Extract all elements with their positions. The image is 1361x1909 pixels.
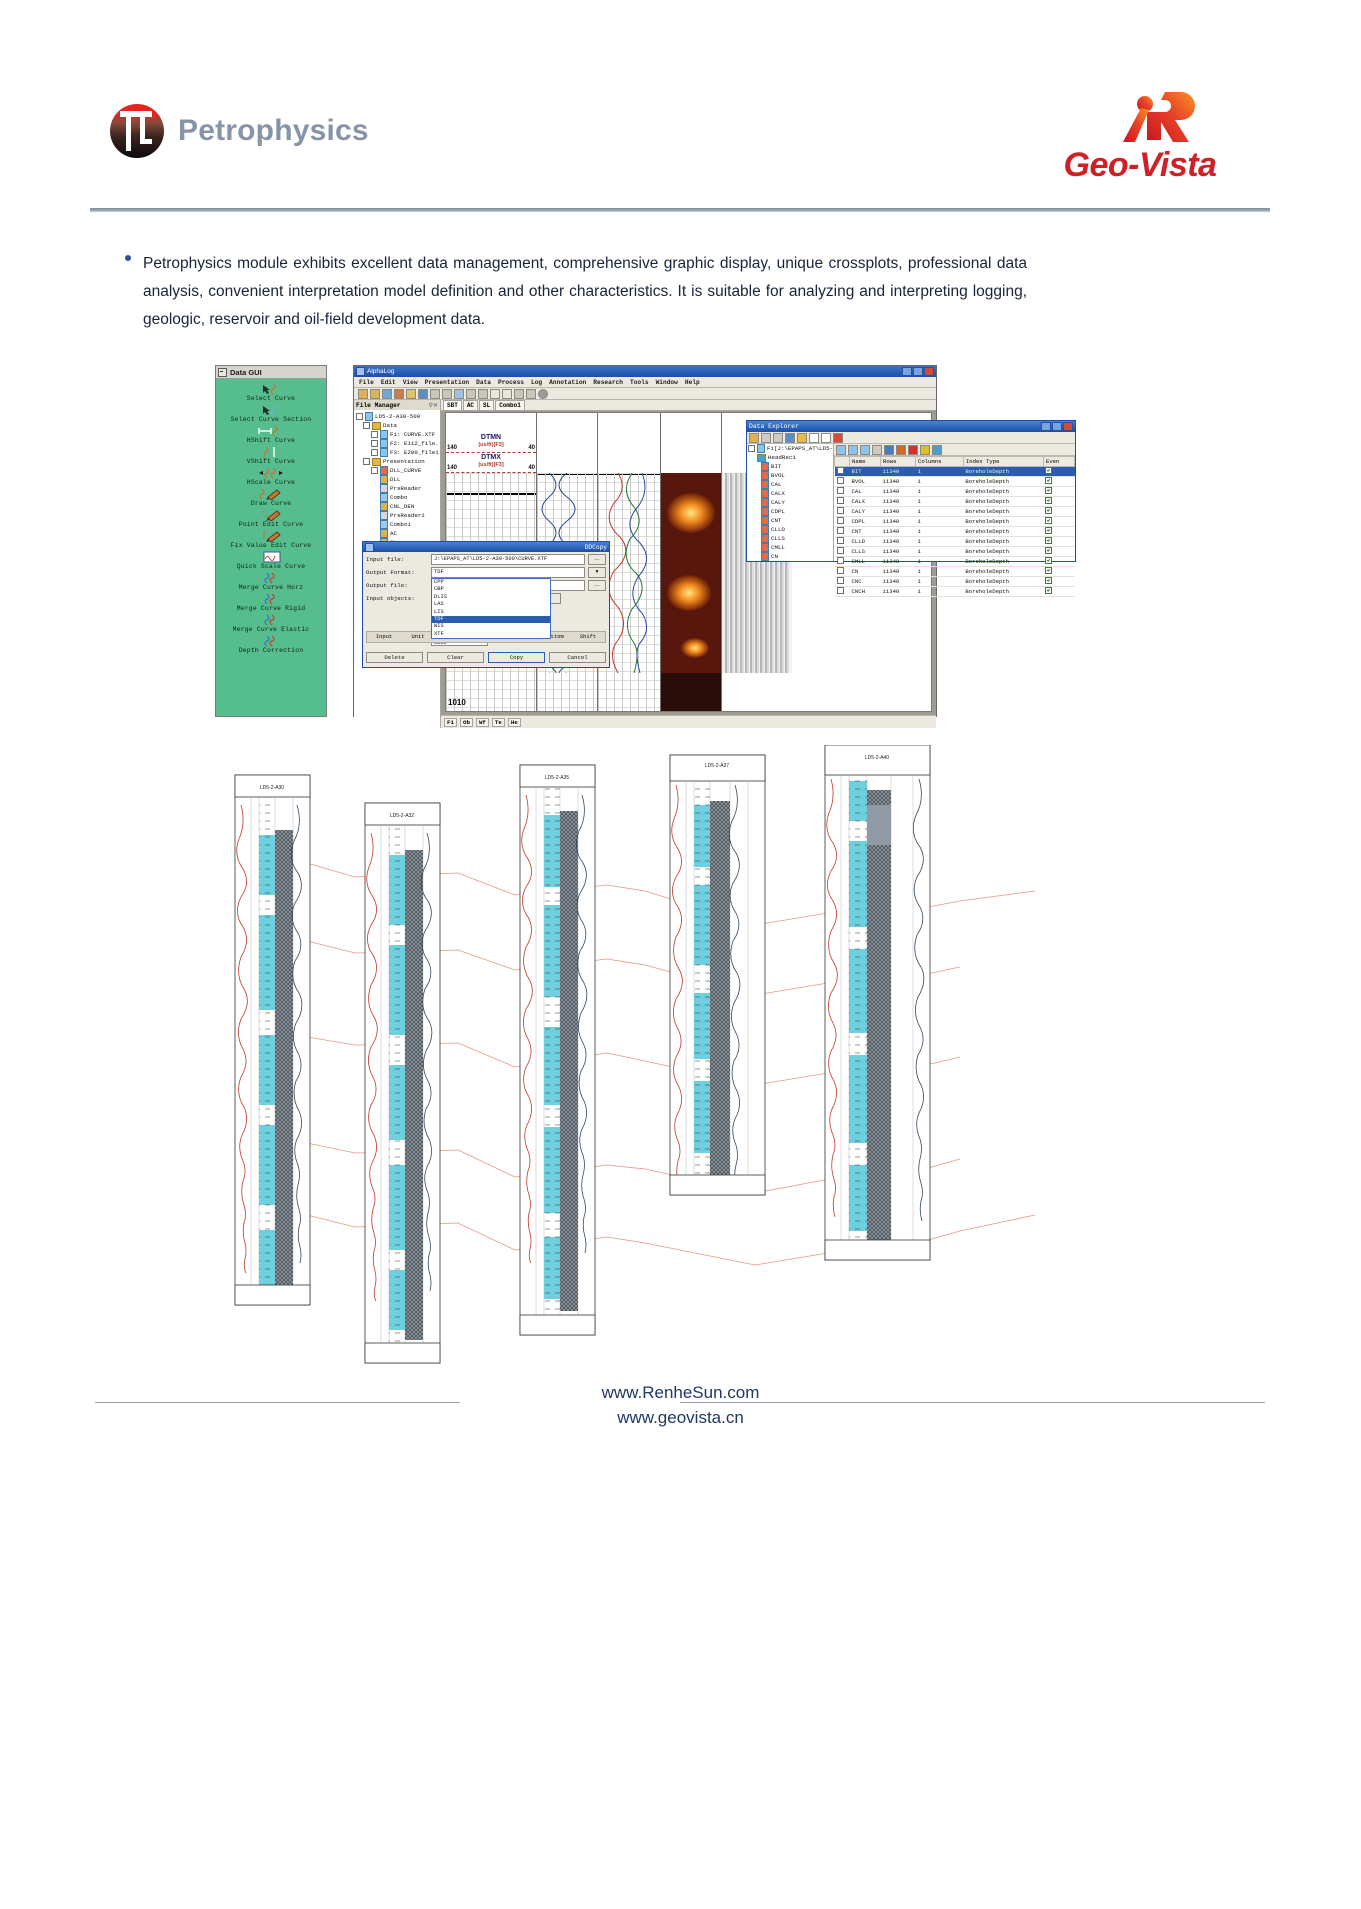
format-option-dlis[interactable]: DLIS bbox=[432, 594, 550, 601]
format-option-xtf[interactable]: XTF bbox=[432, 631, 550, 638]
table-toolbar[interactable] bbox=[834, 444, 1075, 456]
print-icon[interactable] bbox=[394, 389, 404, 399]
find-icon[interactable] bbox=[836, 445, 846, 455]
zoom-in-icon[interactable] bbox=[514, 389, 524, 399]
table-body: BIT113401BoreholeDepth BVOL113401Borehol… bbox=[835, 467, 1075, 597]
home-icon[interactable] bbox=[773, 433, 783, 443]
column-header-rows[interactable]: Rows bbox=[881, 457, 916, 467]
data-gui-item-label: Merge Curve Elastic bbox=[233, 626, 310, 633]
petrophysics-circle-logo-icon bbox=[110, 104, 164, 158]
tree-item-label: CAL bbox=[771, 480, 781, 489]
tree-item-clls[interactable]: CLLS bbox=[747, 534, 833, 543]
cell-columns: 1 bbox=[915, 527, 963, 537]
tree-item-caly[interactable]: CALY bbox=[747, 498, 833, 507]
open-icon[interactable] bbox=[370, 389, 380, 399]
tree-node-dll[interactable]: DLL bbox=[356, 475, 439, 484]
format-option-las[interactable]: LAS bbox=[432, 601, 550, 608]
window-icon[interactable] bbox=[809, 433, 819, 443]
input-file-field[interactable]: J:\EPAPS_AT\LD5-2-A30-500\CURVE.XTF bbox=[431, 554, 585, 565]
cell-index-type: BoreholeDepth bbox=[963, 577, 1043, 587]
cell-name: CNC bbox=[850, 577, 881, 587]
curve-scale-high: 40 bbox=[528, 445, 535, 451]
link-icon[interactable] bbox=[884, 445, 894, 455]
save-icon[interactable] bbox=[406, 389, 416, 399]
tree-node-label: DLL_CURVE bbox=[390, 466, 421, 475]
even-checkbox[interactable] bbox=[1045, 537, 1052, 544]
tree-node-f2[interactable]: F2: E112_file. bbox=[356, 439, 439, 448]
minimize-button[interactable] bbox=[1041, 422, 1051, 431]
cancel-button[interactable]: Cancel bbox=[549, 652, 606, 663]
tree-node-prsreader1[interactable]: PrsReader1 bbox=[356, 511, 439, 520]
cell-rows: 11340 bbox=[881, 587, 916, 597]
expander-icon[interactable] bbox=[748, 445, 755, 452]
cell-index-type: BoreholeDepth bbox=[963, 467, 1043, 477]
diamond-icon[interactable] bbox=[908, 445, 918, 455]
scale-box-icon bbox=[260, 550, 282, 563]
ddcopy-titlebar: DDCopy bbox=[363, 542, 609, 552]
minimize-box-icon[interactable] bbox=[218, 368, 227, 377]
data-explorer-dialog[interactable]: Data Explorer bbox=[746, 420, 1076, 562]
tree-item-label: CALY bbox=[771, 498, 785, 507]
tree-node-cnl-den[interactable]: CNL_DEN bbox=[356, 502, 439, 511]
merge-rigid-icon bbox=[260, 592, 282, 605]
tree-item-clld[interactable]: CLLD bbox=[747, 525, 833, 534]
cell-columns: 1 bbox=[915, 497, 963, 507]
tree-item-label: CLLS bbox=[771, 534, 785, 543]
grid-icon[interactable] bbox=[785, 433, 795, 443]
table-row[interactable]: CN113401BoreholeDepth bbox=[835, 567, 1075, 577]
select-all-header[interactable] bbox=[835, 457, 850, 467]
input-objects-label: Input objects: bbox=[366, 595, 428, 602]
even-checkbox[interactable] bbox=[1045, 487, 1052, 494]
data-explorer-body: F1[J:\EPAPS_AT\LD5-2- HeadRec1 BIT BVOL … bbox=[747, 444, 1075, 561]
track-icon bbox=[380, 502, 388, 511]
data-explorer-table-panel: Name Rows Columns Index Type Even BIT113… bbox=[834, 444, 1075, 561]
cell-rows: 11340 bbox=[881, 497, 916, 507]
row-checkbox[interactable] bbox=[837, 497, 844, 504]
table-row[interactable]: CNC113401BoreholeDepth bbox=[835, 577, 1075, 587]
data-gui-item-point-edit-curve[interactable]: Point Edit Curve bbox=[216, 508, 326, 528]
menu-item-annotation[interactable]: Annotation bbox=[549, 379, 586, 386]
cell-index-type: BoreholeDepth bbox=[963, 537, 1043, 547]
curve-icon bbox=[761, 525, 769, 534]
tree-node-label: LD5-2-A30-500 bbox=[375, 412, 420, 421]
table-row[interactable]: CNT113401BoreholeDepth bbox=[835, 527, 1075, 537]
tree-item-cal[interactable]: CAL bbox=[747, 480, 833, 489]
status-tab-f1[interactable]: F1 bbox=[444, 718, 457, 727]
header-divider bbox=[90, 208, 1270, 212]
cell-index-type: BoreholeDepth bbox=[963, 527, 1043, 537]
tab-ac[interactable]: AC bbox=[463, 400, 478, 410]
grid-col-unit: Unit bbox=[401, 634, 435, 640]
cell-columns: 1 bbox=[915, 567, 963, 577]
curve-unit: (us/ft)[F3] bbox=[446, 442, 536, 448]
data-gui-item-merge-curve-elastic[interactable]: Merge Curve Elastic bbox=[216, 613, 326, 633]
footer-url-geovista[interactable]: www.geovista.cn bbox=[0, 1405, 1361, 1430]
new-icon[interactable] bbox=[358, 389, 368, 399]
data-explorer-title: Data Explorer bbox=[749, 423, 799, 430]
data-gui-item-select-curve[interactable]: Select Curve bbox=[216, 382, 326, 402]
row-checkbox[interactable] bbox=[837, 537, 844, 544]
footer-divider-right bbox=[680, 1402, 1265, 1403]
chevron-down-icon[interactable]: ▾ bbox=[588, 567, 606, 578]
window-icon[interactable] bbox=[382, 389, 392, 399]
copy-icon[interactable] bbox=[442, 389, 452, 399]
menu-item-help[interactable]: Help bbox=[685, 379, 700, 386]
output-file-label: Output file: bbox=[366, 582, 428, 589]
even-checkbox[interactable] bbox=[1045, 477, 1052, 484]
data-gui-item-select-curve-section[interactable]: Select Curve Section bbox=[216, 403, 326, 423]
row-checkbox[interactable] bbox=[837, 487, 844, 494]
even-checkbox[interactable] bbox=[1045, 467, 1052, 474]
tree-node-data[interactable]: Data bbox=[356, 421, 439, 430]
intro-paragraph: Petrophysics module exhibits excellent d… bbox=[143, 250, 1027, 334]
up-arrow-icon[interactable] bbox=[490, 389, 500, 399]
even-checkbox[interactable] bbox=[1045, 507, 1052, 514]
menu-item-window[interactable]: Window bbox=[656, 379, 678, 386]
table-row[interactable]: BIT113401BoreholeDepth bbox=[835, 467, 1075, 477]
data-gui-panel: Data GUI Select Curve Select Curve Secti… bbox=[215, 365, 327, 717]
cell-index-type: BoreholeDepth bbox=[963, 567, 1043, 577]
expander-icon[interactable] bbox=[363, 422, 370, 429]
menu-item-research[interactable]: Research bbox=[593, 379, 623, 386]
cell-rows: 11340 bbox=[881, 577, 916, 587]
well-log-correlation-panel: LD5-2-A30 LD5-2-A32 bbox=[215, 745, 1145, 1365]
table-row[interactable]: CLLD113401BoreholeDepth bbox=[835, 537, 1075, 547]
log-track-4-image[interactable] bbox=[661, 413, 722, 711]
data-gui-item-draw-curve[interactable]: Draw Curve bbox=[216, 487, 326, 507]
data-explorer-toolbar[interactable] bbox=[747, 432, 1075, 444]
cell-columns: 1 bbox=[915, 477, 963, 487]
grid-col-input: Input bbox=[367, 634, 401, 640]
file-icon bbox=[380, 439, 388, 448]
delete-icon[interactable] bbox=[833, 433, 843, 443]
data-gui-item-depth-correction[interactable]: Depth Correction bbox=[216, 634, 326, 654]
menu-item-edit[interactable]: Edit bbox=[381, 379, 396, 386]
vertical-shift-icon bbox=[260, 445, 282, 458]
file-manager-header: File Manager ⚲✕ bbox=[354, 400, 440, 410]
data-explorer-tree[interactable]: F1[J:\EPAPS_AT\LD5-2- HeadRec1 BIT BVOL … bbox=[747, 444, 834, 561]
delete-icon[interactable] bbox=[478, 389, 488, 399]
cell-columns: 1 bbox=[915, 517, 963, 527]
cell-name: BVOL bbox=[850, 477, 881, 487]
cut-icon[interactable] bbox=[430, 389, 440, 399]
status-tab-wf[interactable]: Wf bbox=[476, 718, 489, 727]
save-icon[interactable] bbox=[761, 433, 771, 443]
alphalog-toolbar[interactable] bbox=[354, 388, 936, 400]
tab-sl[interactable]: SL bbox=[479, 400, 494, 410]
pencil-fix-icon bbox=[258, 529, 284, 542]
input-file-row: Input file: J:\EPAPS_AT\LD5-2-A30-500\CU… bbox=[366, 554, 606, 565]
delete-button[interactable]: Delete bbox=[366, 652, 423, 663]
correlation-diagram: LD5-2-A30 LD5-2-A32 bbox=[215, 745, 1145, 1365]
alphalog-menubar[interactable]: File Edit View Presentation Data Process… bbox=[354, 377, 936, 388]
row-checkbox[interactable] bbox=[837, 587, 844, 594]
expander-icon[interactable] bbox=[371, 431, 378, 438]
tree-item-label: BVOL bbox=[771, 471, 785, 480]
file-icon bbox=[757, 444, 765, 453]
column-header-columns[interactable]: Columns bbox=[915, 457, 963, 467]
tree-node-well[interactable]: LD5-2-A30-500 bbox=[356, 412, 439, 421]
tree-item-label: CMLL bbox=[771, 543, 785, 552]
tree-node-combo[interactable]: Combo bbox=[356, 493, 439, 502]
table-row[interactable]: CAL113401BoreholeDepth bbox=[835, 487, 1075, 497]
tab-combo1[interactable]: Combo1 bbox=[495, 400, 525, 410]
merge-horz-icon bbox=[260, 571, 282, 584]
curve-header-dtmn: DTMN (us/ft)[F3] 140 40 bbox=[446, 433, 536, 453]
status-tab-he[interactable]: He bbox=[508, 718, 521, 727]
row-checkbox[interactable] bbox=[837, 557, 844, 564]
data-gui-item-hshift-curve[interactable]: HShift Curve bbox=[216, 424, 326, 444]
document-tabs[interactable]: SBT AC SL Combo1 bbox=[441, 400, 936, 411]
well-column-5: LD5-2-A40 bbox=[825, 745, 930, 1260]
menu-item-tools[interactable]: Tools bbox=[630, 379, 649, 386]
record-icon bbox=[757, 454, 766, 462]
cell-index-type: BoreholeDepth bbox=[963, 547, 1043, 557]
data-gui-item-quick-scale-curve[interactable]: Quick Scale Curve bbox=[216, 550, 326, 570]
tree-node-prsreader[interactable]: PrsReader bbox=[356, 484, 439, 493]
curve-scale-low: 140 bbox=[447, 445, 457, 451]
filter-icon[interactable] bbox=[860, 445, 870, 455]
panel-icon[interactable] bbox=[821, 433, 831, 443]
down-arrow-icon[interactable] bbox=[502, 389, 512, 399]
open-icon[interactable] bbox=[749, 433, 759, 443]
cursor-curve-icon bbox=[260, 382, 282, 395]
intro-text: Petrophysics module exhibits excellent d… bbox=[143, 250, 1027, 334]
output-format-dropdown[interactable]: CPP CBP DLIS LAS LIS TDF WIS XTF bbox=[431, 578, 551, 639]
well-column-1: LD5-2-A30 bbox=[235, 775, 310, 1305]
data-explorer-table[interactable]: Name Rows Columns Index Type Even BIT113… bbox=[834, 456, 1075, 597]
column-header-name[interactable]: Name bbox=[850, 457, 881, 467]
data-gui-item-label: VShift Curve bbox=[247, 458, 295, 465]
undo-icon[interactable] bbox=[454, 389, 464, 399]
page-title: Petrophysics bbox=[178, 114, 369, 148]
page-root: Petrophysics Geo-Vista bbox=[0, 0, 1361, 1909]
well-column-3: LD5-2-A35 bbox=[520, 765, 595, 1335]
window-controls[interactable] bbox=[902, 367, 934, 376]
data-gui-item-label: HScale Curve bbox=[247, 479, 295, 486]
data-gui-item-label: Select Curve Section bbox=[231, 416, 312, 423]
cell-name: CLLD bbox=[850, 537, 881, 547]
row-checkbox[interactable] bbox=[837, 527, 844, 534]
even-checkbox[interactable] bbox=[1045, 527, 1052, 534]
close-button[interactable] bbox=[1063, 422, 1073, 431]
row-checkbox[interactable] bbox=[837, 517, 844, 524]
table-row[interactable]: CALX113401BoreholeDepth bbox=[835, 497, 1075, 507]
input-file-browse-button[interactable]: ... bbox=[588, 554, 606, 565]
tree-node-label: Combo bbox=[390, 493, 407, 502]
tree-item-label: CALX bbox=[771, 489, 785, 498]
expander-icon[interactable] bbox=[371, 449, 378, 456]
table-row[interactable]: CNCH113401BoreholeDepth bbox=[835, 587, 1075, 597]
horizontal-scale-icon bbox=[257, 466, 285, 479]
format-option-lis[interactable]: LIS bbox=[432, 609, 550, 616]
expander-icon[interactable] bbox=[371, 467, 378, 474]
data-gui-item-fix-value-edit-curve[interactable]: Fix Value Edit Curve bbox=[216, 529, 326, 549]
grid-icon[interactable] bbox=[418, 389, 428, 399]
tree-root-node[interactable]: F1[J:\EPAPS_AT\LD5-2- bbox=[747, 444, 833, 453]
tree-node-dll-curve[interactable]: DLL_CURVE bbox=[356, 466, 439, 475]
data-gui-item-merge-curve-rigid[interactable]: Merge Curve Rigid bbox=[216, 592, 326, 612]
cell-index-type: BoreholeDepth bbox=[963, 517, 1043, 527]
even-checkbox[interactable] bbox=[1045, 517, 1052, 524]
tree-root-label: F1[J:\EPAPS_AT\LD5-2- bbox=[767, 444, 834, 453]
tree-item-cnt[interactable]: CNT bbox=[747, 516, 833, 525]
status-tab-ob[interactable]: Ob bbox=[460, 718, 473, 727]
paste-icon[interactable] bbox=[466, 389, 476, 399]
clear-button[interactable]: Clear bbox=[427, 652, 484, 663]
minimize-button[interactable] bbox=[902, 367, 912, 376]
maximize-button[interactable] bbox=[1052, 422, 1062, 431]
curve-icon bbox=[761, 507, 769, 516]
output-format-select[interactable]: TDF bbox=[431, 567, 585, 578]
even-checkbox[interactable] bbox=[1045, 547, 1052, 554]
track-icon bbox=[380, 511, 388, 520]
refresh-icon[interactable] bbox=[920, 445, 930, 455]
cell-rows: 11340 bbox=[881, 537, 916, 547]
row-checkbox[interactable] bbox=[837, 507, 844, 514]
cell-rows: 11340 bbox=[881, 547, 916, 557]
table-row[interactable]: CALY113401BoreholeDepth bbox=[835, 507, 1075, 517]
row-checkbox[interactable] bbox=[837, 547, 844, 554]
data-gui-item-vshift-curve[interactable]: VShift Curve bbox=[216, 445, 326, 465]
cell-index-type: BoreholeDepth bbox=[963, 497, 1043, 507]
menu-item-presentation[interactable]: Presentation bbox=[425, 379, 470, 386]
tab-sbt[interactable]: SBT bbox=[443, 400, 462, 410]
curve-icon bbox=[761, 543, 769, 552]
format-option-tdf[interactable]: TDF bbox=[432, 616, 550, 623]
alphalog-app-icon bbox=[356, 367, 365, 376]
tree-item-cmll[interactable]: CMLL bbox=[747, 543, 833, 552]
cell-name: CLLS bbox=[850, 547, 881, 557]
menu-item-view[interactable]: View bbox=[403, 379, 418, 386]
page-footer: www.RenheSun.com www.geovista.cn bbox=[0, 1380, 1361, 1430]
alphalog-window: AlphaLog File Edit View Presentation Dat… bbox=[353, 365, 937, 717]
company-brand: Geo-Vista bbox=[1015, 88, 1265, 182]
tree-item-label: HeadRec1 bbox=[768, 453, 796, 462]
ddcopy-dialog[interactable]: DDCopy Input file: J:\EPAPS_AT\LD5-2-A30… bbox=[362, 541, 610, 668]
even-checkbox[interactable] bbox=[1045, 497, 1052, 504]
file-icon bbox=[380, 448, 388, 457]
tree-node-ac[interactable]: AC bbox=[356, 529, 439, 538]
tree-node-presentation[interactable]: Presentation bbox=[356, 457, 439, 466]
tree-node-f1[interactable]: F1: CURVE.XTF bbox=[356, 430, 439, 439]
folder-icon bbox=[372, 458, 381, 466]
menu-item-process[interactable]: Process bbox=[498, 379, 524, 386]
export-icon[interactable] bbox=[797, 433, 807, 443]
data-gui-title: Data GUI bbox=[230, 368, 262, 377]
cell-name: CNT bbox=[850, 527, 881, 537]
table-row[interactable]: CLLS113401BoreholeDepth bbox=[835, 547, 1075, 557]
maximize-button[interactable] bbox=[913, 367, 923, 376]
cell-columns: 1 bbox=[915, 557, 963, 567]
brand-left: Petrophysics bbox=[110, 104, 369, 158]
data-gui-titlebar: Data GUI bbox=[216, 366, 326, 379]
data-gui-item-merge-curve-horz[interactable]: Merge Curve Horz bbox=[216, 571, 326, 591]
tree-item-label: CLLD bbox=[771, 525, 785, 534]
data-gui-item-label: Merge Curve Horz bbox=[239, 584, 304, 591]
even-checkbox[interactable] bbox=[1045, 577, 1052, 584]
tree-node-f3[interactable]: F3: E200_file1 bbox=[356, 448, 439, 457]
format-option-cpp[interactable]: CPP bbox=[432, 579, 550, 586]
menu-item-file[interactable]: File bbox=[359, 379, 374, 386]
well-column-4: LD5-2-A37 bbox=[670, 755, 765, 1195]
data-gui-item-label: Depth Correction bbox=[239, 647, 304, 654]
cell-name: CAL bbox=[850, 487, 881, 497]
expander-icon[interactable] bbox=[363, 458, 370, 465]
lock-icon[interactable] bbox=[932, 445, 942, 455]
expander-icon[interactable] bbox=[371, 440, 378, 447]
data-gui-item-hscale-curve[interactable]: HScale Curve bbox=[216, 466, 326, 486]
sort-icon[interactable] bbox=[872, 445, 882, 455]
tree-item-calx[interactable]: CALX bbox=[747, 489, 833, 498]
column-header-index-type[interactable]: Index Type bbox=[963, 457, 1043, 467]
output-file-browse-button[interactable]: ... bbox=[588, 580, 606, 591]
row-checkbox[interactable] bbox=[837, 477, 844, 484]
menu-item-log[interactable]: Log bbox=[531, 379, 542, 386]
data-gui-item-label: Merge Curve Rigid bbox=[237, 605, 306, 612]
table-row[interactable]: CDPL113401BoreholeDepth bbox=[835, 517, 1075, 527]
folder-icon bbox=[372, 422, 381, 430]
tree-item-headrec1[interactable]: HeadRec1 bbox=[747, 453, 833, 462]
tree-item-cn[interactable]: CN bbox=[747, 552, 833, 561]
copy-button[interactable]: Copy bbox=[488, 652, 545, 663]
data-gui-item-label: Fix Value Edit Curve bbox=[231, 542, 312, 549]
row-checkbox[interactable] bbox=[837, 467, 844, 474]
zoom-out-icon[interactable] bbox=[526, 389, 536, 399]
alphalog-statusbar[interactable]: F1 Ob Wf Te He bbox=[441, 715, 936, 728]
expander-icon[interactable] bbox=[356, 413, 363, 420]
row-checkbox[interactable] bbox=[837, 567, 844, 574]
curve-name: DTMN bbox=[446, 433, 536, 442]
format-option-cbp[interactable]: CBP bbox=[432, 586, 550, 593]
window-controls[interactable] bbox=[1041, 422, 1073, 431]
even-checkbox[interactable] bbox=[1045, 557, 1052, 564]
cell-rows: 11340 bbox=[881, 487, 916, 497]
menu-item-data[interactable]: Data bbox=[476, 379, 491, 386]
tree-item-cdpl[interactable]: CDPL bbox=[747, 507, 833, 516]
footer-divider-left bbox=[95, 1402, 460, 1403]
svg-text:LD5-2-A37: LD5-2-A37 bbox=[705, 763, 729, 769]
table-icon[interactable] bbox=[848, 445, 858, 455]
data-gui-item-label: Point Edit Curve bbox=[239, 521, 304, 528]
curve-scale-high: 40 bbox=[528, 465, 535, 471]
curve-icon bbox=[761, 471, 769, 480]
track-header-2 bbox=[537, 413, 597, 475]
even-checkbox[interactable] bbox=[1045, 567, 1052, 574]
stop-icon[interactable] bbox=[538, 389, 548, 399]
format-option-wis[interactable]: WIS bbox=[432, 623, 550, 630]
row-checkbox[interactable] bbox=[837, 577, 844, 584]
cursor-curve-section-icon bbox=[260, 403, 282, 416]
tree-item-label: CNT bbox=[771, 516, 781, 525]
column-header-even[interactable]: Even bbox=[1043, 457, 1074, 467]
close-button[interactable] bbox=[924, 367, 934, 376]
status-tab-te[interactable]: Te bbox=[492, 718, 505, 727]
chain-icon[interactable] bbox=[896, 445, 906, 455]
pin-icon[interactable]: ⚲✕ bbox=[429, 402, 438, 409]
tree-item-bit[interactable]: BIT bbox=[747, 462, 833, 471]
tree-node-combo1[interactable]: Combo1 bbox=[356, 520, 439, 529]
tree-item-bvol[interactable]: BVOL bbox=[747, 471, 833, 480]
curve-icon bbox=[761, 534, 769, 543]
svg-text:LD5-2-A40: LD5-2-A40 bbox=[865, 755, 889, 761]
table-row[interactable]: BVOL113401BoreholeDepth bbox=[835, 477, 1075, 487]
curve-icon bbox=[761, 480, 769, 489]
even-checkbox[interactable] bbox=[1045, 587, 1052, 594]
company-name: Geo-Vista bbox=[1015, 148, 1265, 182]
table-row[interactable]: CMLL113401BoreholeDepth bbox=[835, 557, 1075, 567]
